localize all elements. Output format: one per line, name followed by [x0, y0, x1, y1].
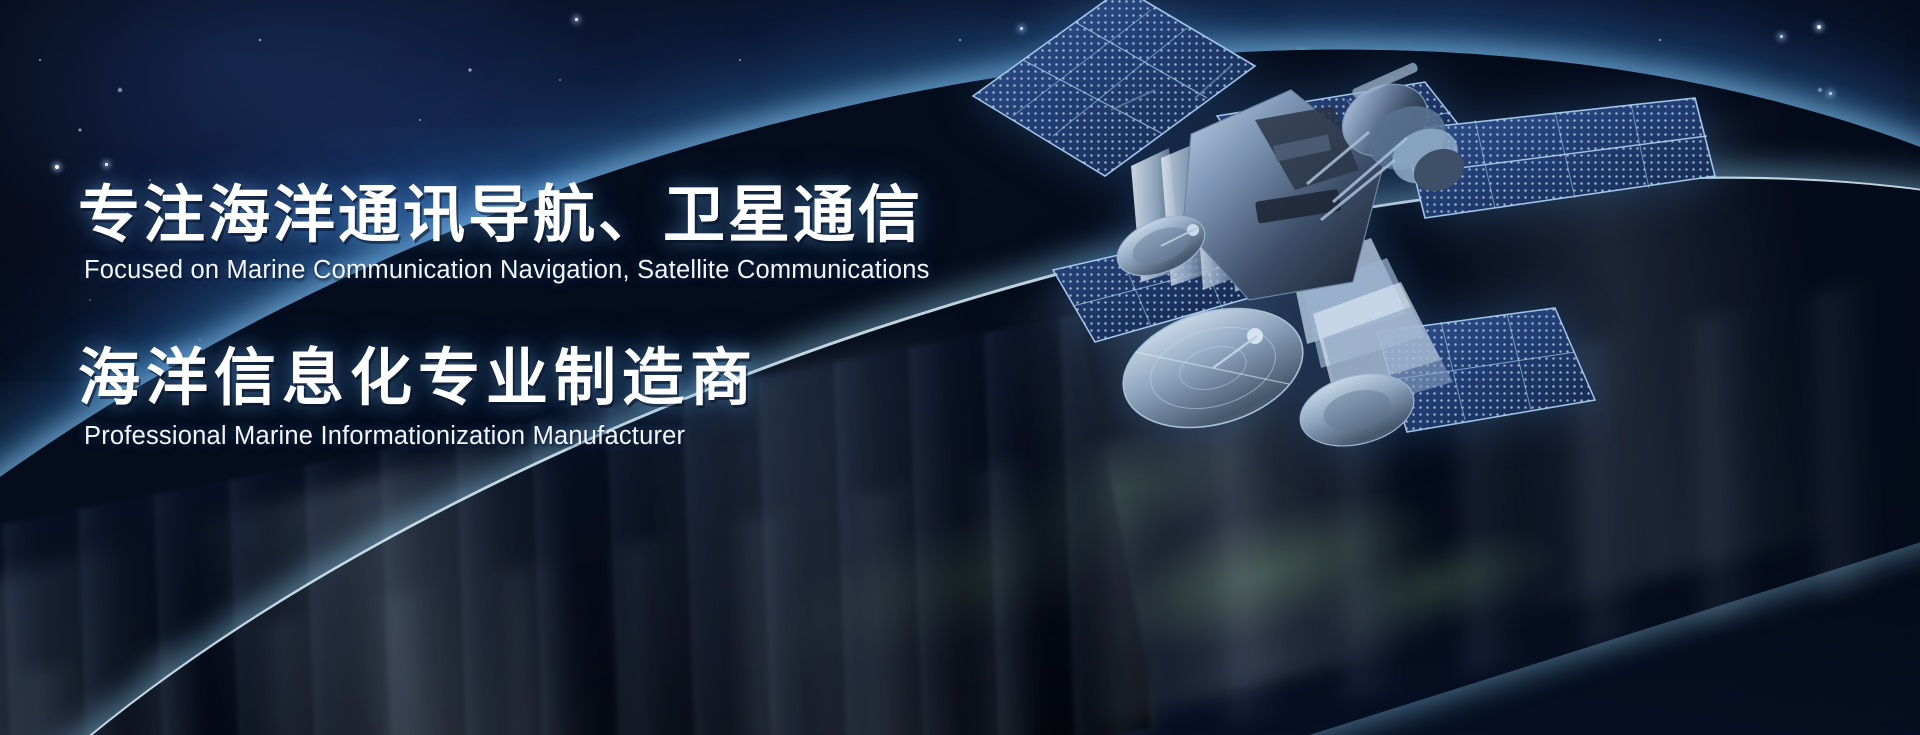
bright-star [1817, 25, 1821, 29]
hero-block-1: 专注海洋通讯导航、卫星通信 Focused on Marine Communic… [78, 184, 1078, 285]
hero-block-2: 海洋信息化专业制造商 Professional Marine Informati… [78, 347, 1078, 450]
headline-primary: 专注海洋通讯导航、卫星通信 [78, 184, 1078, 248]
hero-banner: 专注海洋通讯导航、卫星通信 Focused on Marine Communic… [0, 0, 1920, 735]
headline-secondary: 海洋信息化专业制造商 [78, 347, 1078, 411]
bright-star [1780, 35, 1783, 38]
bright-star [55, 165, 59, 169]
bright-star [575, 18, 578, 21]
subtitle-primary: Focused on Marine Communication Navigati… [84, 256, 1078, 285]
bright-star [105, 163, 108, 166]
subtitle-secondary: Professional Marine Informationization M… [84, 422, 1078, 451]
hero-copy: 专注海洋通讯导航、卫星通信 Focused on Marine Communic… [78, 184, 1078, 451]
